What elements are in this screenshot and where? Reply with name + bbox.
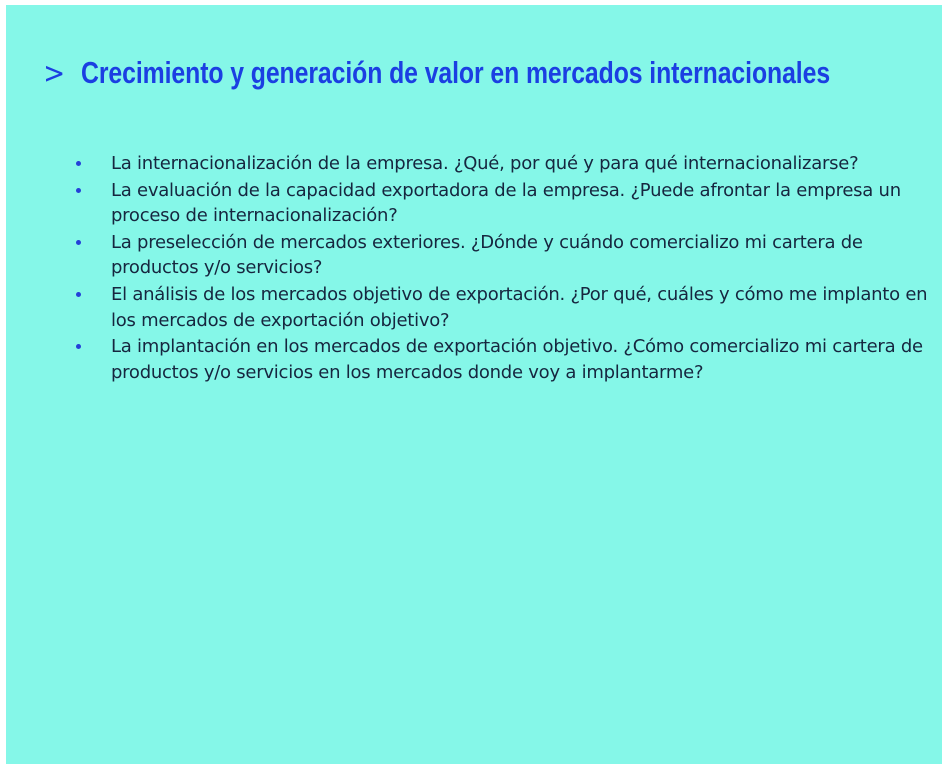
bullet-dot-icon [76, 344, 81, 349]
list-item-text: La evaluación de la capacidad exportador… [111, 178, 942, 229]
bullet-dot-icon [76, 292, 81, 297]
slide-canvas: > Crecimiento y generación de valor en m… [6, 5, 942, 764]
list-item: La evaluación de la capacidad exportador… [74, 178, 942, 229]
list-item: La internacionalización de la empresa. ¿… [74, 151, 942, 177]
bullet-dot-icon [76, 240, 81, 245]
chevron-right-icon: > [43, 59, 65, 88]
slide-title: > Crecimiento y generación de valor en m… [42, 57, 942, 88]
list-item: La implantación en los mercados de expor… [74, 334, 942, 385]
list-item-text: La internacionalización de la empresa. ¿… [111, 151, 942, 177]
list-item-text: La preselección de mercados exteriores. … [111, 230, 942, 281]
list-item-text: La implantación en los mercados de expor… [111, 334, 942, 385]
list-item-text: El análisis de los mercados objetivo de … [111, 282, 942, 333]
list-item: La preselección de mercados exteriores. … [74, 230, 942, 281]
bullet-dot-icon [76, 161, 81, 166]
list-item: El análisis de los mercados objetivo de … [74, 282, 942, 333]
bullet-dot-icon [76, 188, 81, 193]
bullet-list: La internacionalización de la empresa. ¿… [74, 151, 942, 386]
page-title: Crecimiento y generación de valor en mer… [81, 57, 830, 88]
